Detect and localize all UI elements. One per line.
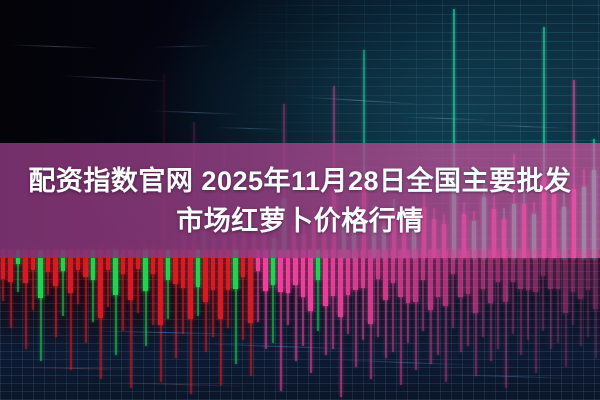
lower-trend-traces bbox=[0, 250, 600, 400]
trend-trace bbox=[90, 330, 240, 334]
title-overlay-band: 配资指数官网 2025年11月28日全国主要批发 市场红萝卜价格行情 bbox=[0, 143, 600, 258]
trend-trace bbox=[440, 374, 580, 379]
title-line-2: 市场红萝卜价格行情 bbox=[176, 201, 424, 241]
trend-trace bbox=[200, 343, 360, 350]
title-line-1: 配资指数官网 2025年11月28日全国主要批发 bbox=[28, 161, 571, 201]
screenshot-root: 配资指数官网 2025年11月28日全国主要批发 市场红萝卜价格行情 bbox=[0, 0, 600, 400]
trend-trace bbox=[110, 382, 250, 387]
trend-trace bbox=[330, 359, 480, 366]
trend-trace bbox=[20, 367, 140, 370]
